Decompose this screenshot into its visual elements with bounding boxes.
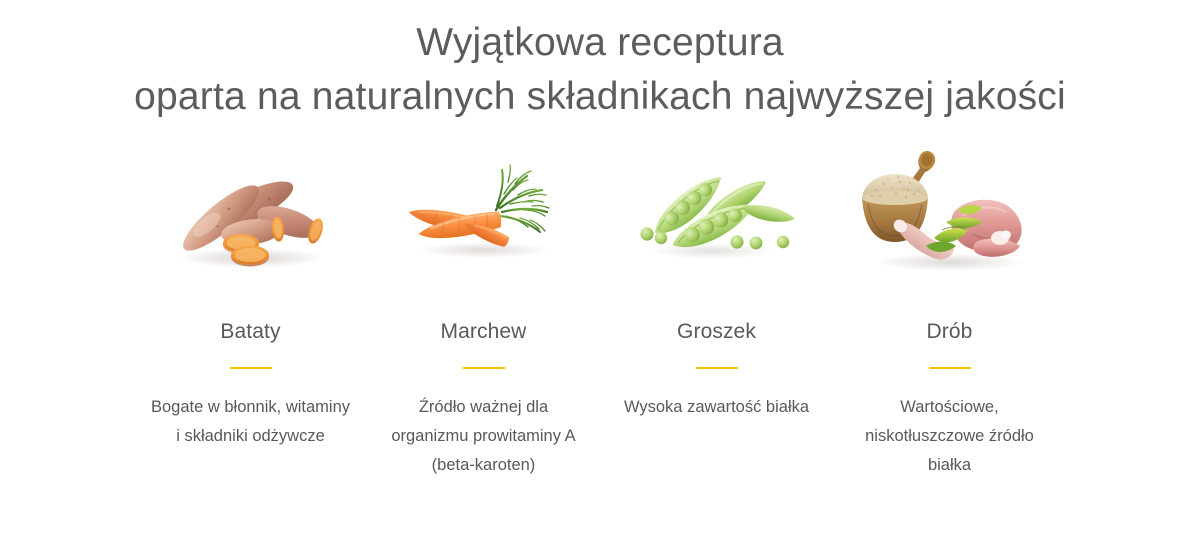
ingredient-card-drob: Drób Wartościowe, niskotłuszczowe źródło… [833,146,1066,480]
ingredient-description: Bogate w błonnik, witaminy i składniki o… [151,393,351,451]
ingredient-card-groszek: Groszek Wysoka zawartość białka [600,146,833,422]
title-divider [929,367,971,369]
ingredient-title: Drób [927,319,973,345]
ingredient-description: Wysoka zawartość białka [617,393,817,422]
ingredient-title: Groszek [677,319,756,345]
ingredients-section: Wyjątkowa receptura oparta na naturalnyc… [0,0,1200,544]
page-title: Wyjątkowa receptura oparta na naturalnyc… [0,0,1200,124]
ingredient-description: Wartościowe, niskotłuszczowe źródło biał… [850,393,1050,480]
ingredient-title: Marchew [441,319,527,345]
ingredient-list: Bataty Bogate w błonnik, witaminy i skła… [0,146,1200,480]
ingredient-card-marchew: Marchew Źródło ważnej dla organizmu prow… [367,146,600,480]
ingredient-card-bataty: Bataty Bogate w błonnik, witaminy i skła… [134,146,367,451]
ingredient-title: Bataty [220,319,280,345]
page-title-line-1: Wyjątkowa receptura [0,16,1200,70]
title-divider [230,367,272,369]
carrot-image [384,146,584,281]
poultry-and-grain-bowl-image [850,146,1050,281]
page-title-line-2: oparta na naturalnych składnikach najwyż… [0,70,1200,124]
title-divider [696,367,738,369]
ingredient-description: Źródło ważnej dla organizmu prowitaminy … [384,393,584,480]
sweet-potato-image [151,146,351,281]
green-peas-image [617,146,817,281]
title-divider [463,367,505,369]
